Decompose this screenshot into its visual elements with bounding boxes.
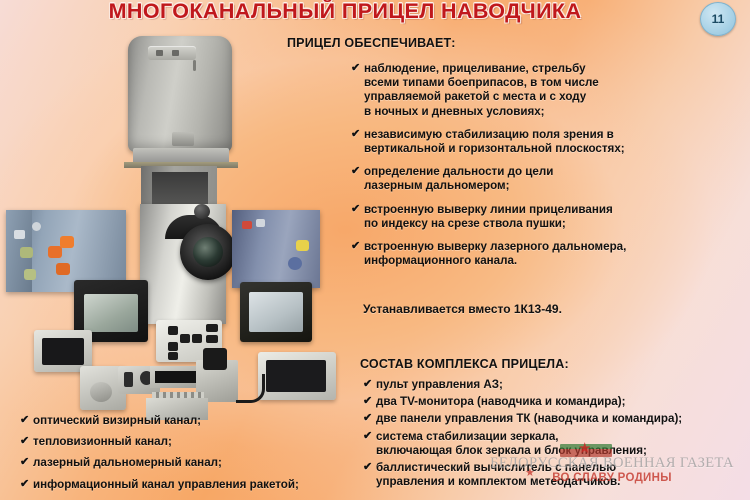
tv-monitor-gunner-screen bbox=[84, 294, 138, 332]
provides-item: ✔встроенную выверку линии прицеливанияпо… bbox=[351, 203, 746, 231]
composition-item-line: два TV-монитора (наводчика и командира); bbox=[376, 395, 750, 409]
composition-item-line: баллистический вычислитель с панелью bbox=[376, 461, 750, 475]
provides-item: ✔наблюдение, прицеливание, стрельбувсеми… bbox=[351, 62, 746, 119]
right-box-blue-connector bbox=[288, 257, 302, 270]
check-icon: ✔ bbox=[20, 477, 29, 491]
slide-title: МНОГОКАНАЛЬНЫЙ ПРИЦЕЛ НАВОДЧИКА bbox=[0, 0, 690, 24]
sight-head-slot bbox=[193, 60, 196, 71]
check-icon: ✔ bbox=[351, 61, 360, 75]
camera-top-ball bbox=[194, 204, 210, 219]
composition-item-line: система стабилизации зеркала, bbox=[376, 430, 750, 444]
check-icon: ✔ bbox=[363, 429, 372, 443]
provides-heading: ПРИЦЕЛ ОБЕСПЕЧИВАЕТ: bbox=[287, 36, 456, 50]
check-icon: ✔ bbox=[351, 127, 360, 141]
provides-item-line: определение дальности до цели bbox=[364, 165, 746, 179]
left-box-orange-connector-1 bbox=[48, 246, 62, 258]
replacement-note: Устанавливается вместо 1К13-49. bbox=[363, 302, 562, 316]
channels-list: ✔оптический визирный канал;✔тепловизионн… bbox=[20, 414, 350, 499]
provides-item-line: всеми типами боеприпасов, в том числе bbox=[364, 76, 746, 90]
check-icon: ✔ bbox=[20, 455, 29, 469]
check-icon: ✔ bbox=[363, 377, 372, 391]
composition-item: ✔система стабилизации зеркала,включающая… bbox=[363, 430, 750, 458]
slide-canvas: МНОГОКАНАЛЬНЫЙ ПРИЦЕЛ НАВОДЧИКА 11 ПРИЦЕ… bbox=[0, 0, 750, 500]
check-icon: ✔ bbox=[20, 413, 29, 427]
equipment-photo-collage bbox=[0, 14, 348, 414]
left-box-orange-connector-3 bbox=[56, 263, 70, 275]
page-number-badge: 11 bbox=[700, 2, 736, 36]
ballistic-computer-display bbox=[42, 338, 84, 365]
provides-item-line: независимую стабилизацию поля зрения в bbox=[364, 128, 746, 142]
provides-item-line: информационного канала. bbox=[364, 254, 746, 268]
meteo-sensor-dial bbox=[90, 382, 112, 402]
sight-head-lug bbox=[172, 132, 194, 146]
small-control-unit-knob-1 bbox=[124, 372, 133, 387]
cable-loop bbox=[236, 374, 265, 403]
composition-list: ✔пульт управления АЗ;✔два TV-монитора (н… bbox=[363, 378, 750, 492]
left-box-round-fitting bbox=[32, 222, 41, 231]
sight-head-fitting-b bbox=[172, 50, 179, 56]
control-panel-key-down bbox=[168, 342, 178, 351]
control-panel-key-extra bbox=[168, 352, 178, 360]
left-box-green-connector-1 bbox=[20, 247, 33, 258]
control-panel-key-up bbox=[168, 326, 178, 335]
right-box-yellow-connector bbox=[296, 240, 309, 251]
provides-item-line: наблюдение, прицеливание, стрельбу bbox=[364, 62, 746, 76]
composition-item: ✔два TV-монитора (наводчика и командира)… bbox=[363, 395, 750, 409]
composition-item: ✔пульт управления АЗ; bbox=[363, 378, 750, 392]
check-icon: ✔ bbox=[363, 411, 372, 425]
channel-item: ✔информационный канал управления ракетой… bbox=[20, 478, 350, 492]
check-icon: ✔ bbox=[351, 239, 360, 253]
left-box-silver-fitting bbox=[14, 230, 25, 239]
provides-item-line: управляемой ракетой с места и с ходу bbox=[364, 90, 746, 104]
right-control-unit-display bbox=[266, 360, 326, 392]
check-icon: ✔ bbox=[351, 202, 360, 216]
composition-heading: СОСТАВ КОМПЛЕКСА ПРИЦЕЛА: bbox=[360, 357, 569, 371]
composition-item-line: управления и комплектом метеодатчиков. bbox=[376, 475, 750, 489]
provides-item: ✔независимую стабилизацию поля зрения вв… bbox=[351, 128, 746, 156]
provides-item-line: встроенную выверку лазерного дальномера, bbox=[364, 240, 746, 254]
provides-item: ✔определение дальности до целилазерным д… bbox=[351, 165, 746, 193]
provides-item: ✔встроенную выверку лазерного дальномера… bbox=[351, 240, 746, 268]
channel-item-line: информационный канал управления ракетой; bbox=[33, 478, 350, 492]
control-panel-switch-1 bbox=[206, 324, 218, 332]
left-box-green-connector-2 bbox=[24, 269, 36, 280]
left-box-orange-connector-2 bbox=[60, 236, 74, 248]
control-panel-key-right bbox=[192, 334, 202, 343]
provides-item-line: встроенную выверку линии прицеливания bbox=[364, 203, 746, 217]
check-icon: ✔ bbox=[20, 434, 29, 448]
provides-item-line: вертикальной и горизонтальной плоскостях… bbox=[364, 142, 746, 156]
composition-item: ✔две панели управления ТК (наводчика и к… bbox=[363, 412, 750, 426]
channel-item-line: оптический визирный канал; bbox=[33, 414, 350, 428]
check-icon: ✔ bbox=[363, 394, 372, 408]
provides-item-line: в ночных и дневных условиях; bbox=[364, 105, 746, 119]
provides-item-line: по индексу на срезе ствола пушки; bbox=[364, 217, 746, 231]
channel-item-line: лазерный дальномерный канал; bbox=[33, 456, 350, 470]
check-icon: ✔ bbox=[363, 460, 372, 474]
page-number-label: 11 bbox=[712, 12, 725, 26]
composition-item: ✔баллистический вычислитель с панельюупр… bbox=[363, 461, 750, 489]
right-box-red-connector bbox=[242, 221, 252, 229]
tv-monitor-commander-screen bbox=[249, 292, 303, 332]
control-panel-switch-2 bbox=[206, 335, 218, 343]
composition-item-line: включающая блок зеркала и блок управлени… bbox=[376, 444, 750, 458]
control-panel-key-center bbox=[180, 334, 190, 343]
camera-lens bbox=[193, 237, 223, 267]
module-tray-slot bbox=[155, 371, 197, 383]
provides-list: ✔наблюдение, прицеливание, стрельбувсеми… bbox=[351, 62, 746, 277]
channel-item-line: тепловизионный канал; bbox=[33, 435, 350, 449]
mirror-block-window bbox=[203, 348, 227, 370]
right-box-silver-fitting bbox=[256, 219, 265, 227]
sight-head-fitting-a bbox=[156, 50, 163, 56]
provides-item-line: лазерным дальномером; bbox=[364, 179, 746, 193]
composition-item-line: пульт управления АЗ; bbox=[376, 378, 750, 392]
channel-item: ✔оптический визирный канал; bbox=[20, 414, 350, 428]
channel-item: ✔лазерный дальномерный канал; bbox=[20, 456, 350, 470]
channel-item: ✔тепловизионный канал; bbox=[20, 435, 350, 449]
check-icon: ✔ bbox=[351, 164, 360, 178]
composition-item-line: две панели управления ТК (наводчика и ко… bbox=[376, 412, 750, 426]
